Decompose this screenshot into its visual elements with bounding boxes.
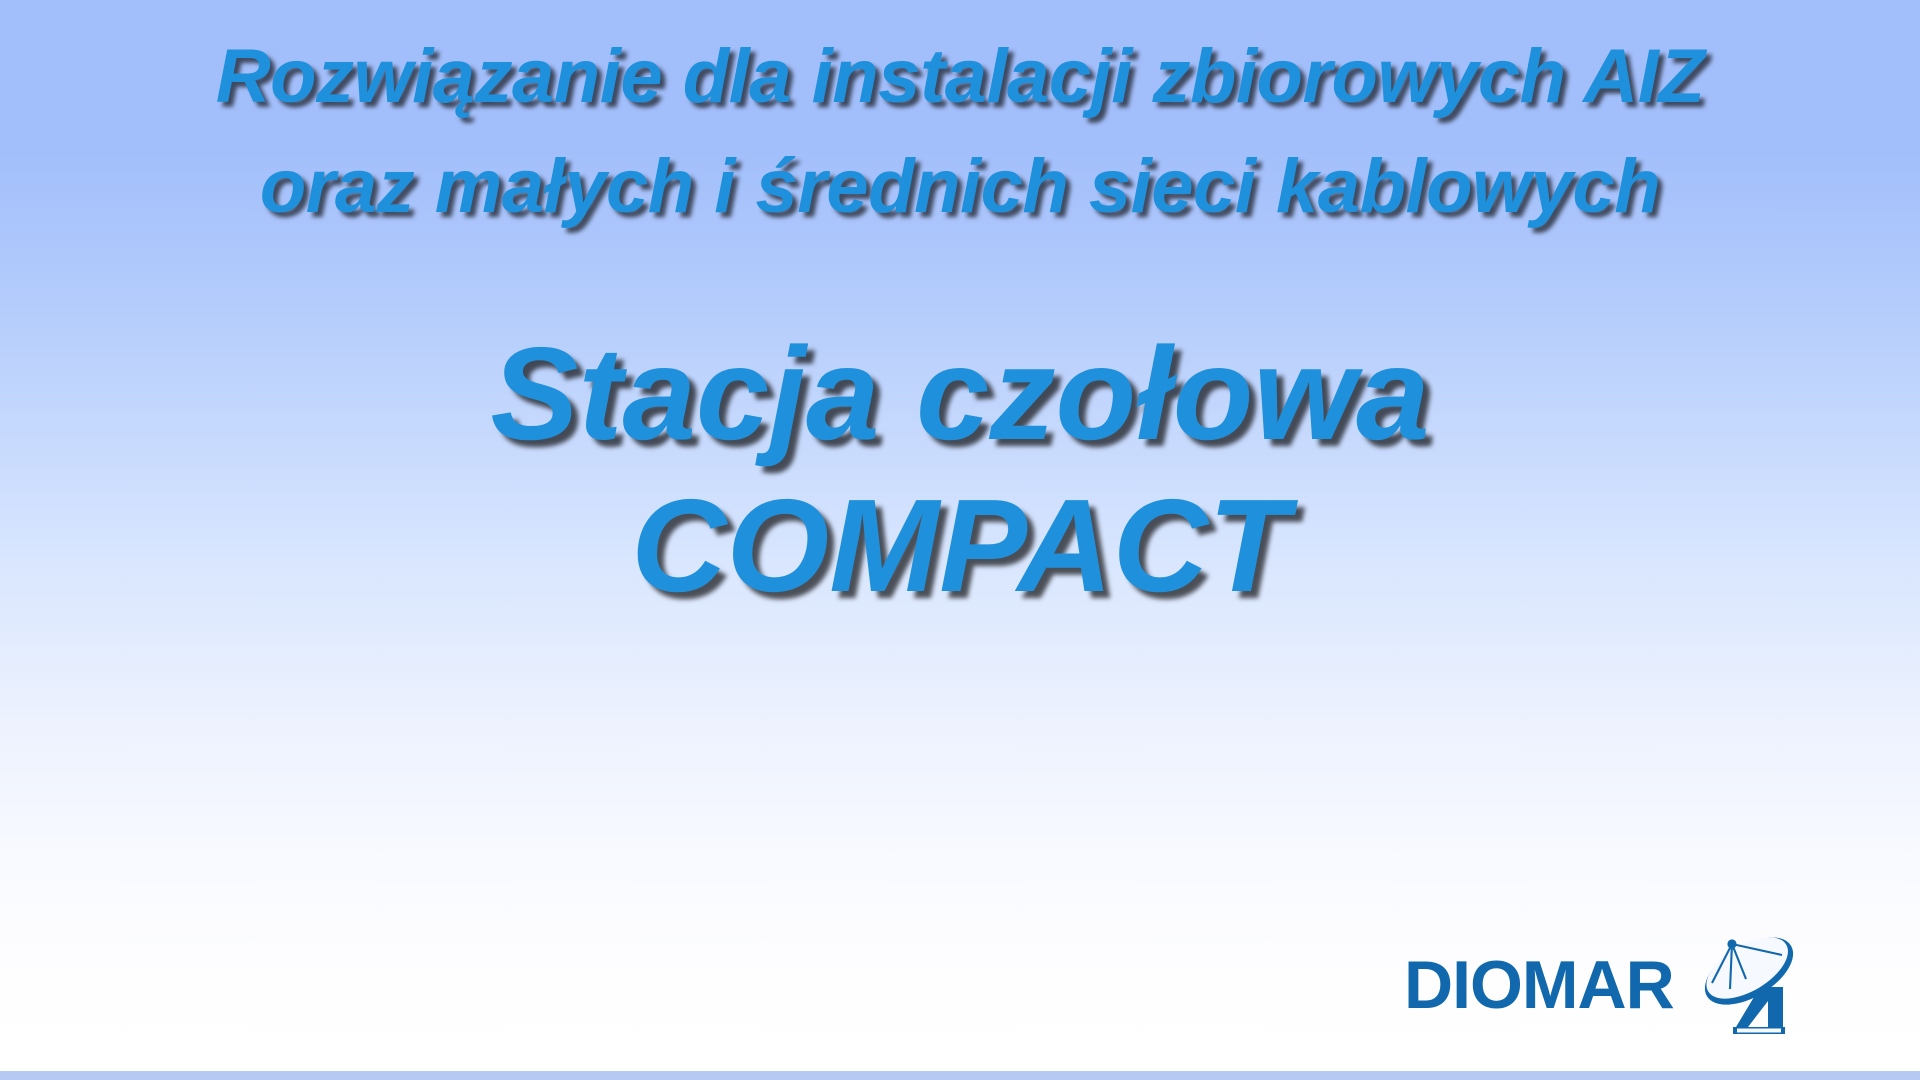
dish-feed-horn (1727, 939, 1736, 948)
slide-subtitle: Rozwiązanie dla instalacji zbiorowych AI… (0, 22, 1920, 242)
presentation-slide: Rozwiązanie dla instalacji zbiorowych AI… (0, 0, 1920, 1080)
diomar-logo: DIOMAR (1404, 930, 1870, 1040)
dish-base-bar-inner (1737, 1029, 1781, 1033)
title-line-2: COMPACT (0, 470, 1920, 622)
title-line-1: Stacja czołowa (0, 318, 1920, 470)
bottom-accent-band (0, 1071, 1920, 1080)
satellite-dish-icon (1690, 931, 1808, 1039)
slide-title: Stacja czołowa COMPACT (0, 318, 1920, 622)
dish-reflector-group (1693, 931, 1804, 1019)
subtitle-line-2: oraz małych i średnich sieci kablowych (0, 132, 1920, 242)
diomar-wordmark: DIOMAR (1404, 950, 1674, 1020)
subtitle-line-1: Rozwiązanie dla instalacji zbiorowych AI… (0, 22, 1920, 132)
